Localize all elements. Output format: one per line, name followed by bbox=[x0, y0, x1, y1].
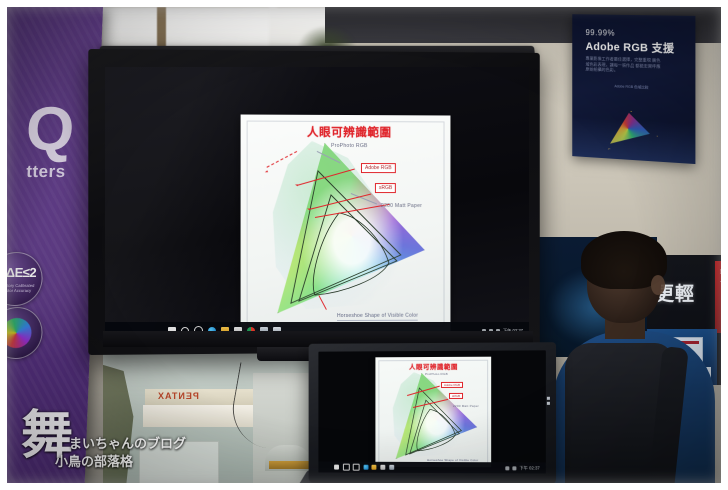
color-fan-icon bbox=[7, 318, 32, 348]
tablet-taskbar[interactable]: 下午 02:37 bbox=[318, 462, 545, 474]
adobe-rgb-title: Adobe RGB 支援 bbox=[586, 38, 675, 56]
tablet-cortana-icon[interactable] bbox=[353, 464, 360, 471]
adobe-rgb-body: 專業影像工作者最佳選擇，完整重現 廣色域色彩表現，讓每一張作品 都能忠實呼應原始… bbox=[586, 56, 662, 75]
label-horseshoe-caption: Horseshoe Shape of Visible Color bbox=[337, 313, 418, 321]
pentax-sign-text: PENTAX bbox=[157, 391, 199, 401]
tablet-body: Surface 人眼可辨識範圍 bbox=[309, 342, 556, 483]
slide-inner: 人眼可辨識範圍 bbox=[241, 114, 451, 333]
label-matt-paper: 2200 Matt Paper bbox=[381, 203, 422, 209]
tablet-label-adobe: Adobe RGB bbox=[441, 382, 463, 388]
reflected-strip bbox=[269, 461, 309, 469]
window-reflection: PENTAX bbox=[103, 353, 309, 483]
tablet-volume-icon[interactable] bbox=[512, 466, 516, 470]
tablet-presentation-slide[interactable]: 人眼可辨識範圍 bbox=[375, 357, 491, 468]
photo-scene: A Q tters ΔE≤2 Factory Calibrated Color … bbox=[0, 0, 728, 490]
brand-tagline: tters bbox=[7, 162, 66, 182]
tablet-cie-diagram bbox=[383, 369, 485, 465]
tablet-taskbar-icons bbox=[334, 464, 394, 471]
tablet-network-icon[interactable] bbox=[505, 466, 509, 470]
right-poster-side-text: 新品上市 bbox=[720, 269, 721, 285]
tablet-file-explorer-icon[interactable] bbox=[372, 465, 377, 470]
brand-logo-letter: Q bbox=[7, 95, 74, 165]
tablet-label-srgb: sRGB bbox=[449, 393, 463, 399]
photo-content: A Q tters ΔE≤2 Factory Calibrated Color … bbox=[7, 7, 721, 483]
tablet-screen[interactable]: 人眼可辨識範圍 bbox=[318, 350, 545, 473]
right-poster-red-strip: 新品上市 bbox=[715, 261, 721, 333]
label-adobe-rgb: Adobe RGB bbox=[361, 163, 396, 173]
photo-frame: A Q tters ΔE≤2 Factory Calibrated Color … bbox=[0, 0, 728, 490]
tablet-app-icon[interactable] bbox=[389, 465, 394, 470]
person-ear bbox=[651, 275, 665, 295]
reflected-panel bbox=[139, 441, 219, 483]
tablet-device: Surface 人眼可辨識範圍 bbox=[309, 342, 556, 483]
human-vision-arrowhead bbox=[265, 170, 269, 173]
tablet-search-icon[interactable] bbox=[343, 464, 350, 471]
delta-e-sublabel: Factory Calibrated Color Accuracy bbox=[7, 283, 39, 293]
monitor-screen[interactable]: BenQ 人眼可辨識範圍 bbox=[105, 67, 529, 339]
tablet-edge-icon[interactable] bbox=[363, 465, 368, 470]
presentation-slide[interactable]: 人眼可辨識範圍 bbox=[241, 114, 451, 333]
adobe-rgb-note: Adobe RGB 色域比較 bbox=[614, 84, 648, 90]
banner-glow bbox=[572, 117, 695, 164]
cie-chromaticity-diagram bbox=[255, 135, 441, 326]
adobe-rgb-banner: 99.99% Adobe RGB 支援 專業影像工作者最佳選擇，完整重現 廣色域… bbox=[572, 14, 695, 164]
tablet-start-icon[interactable] bbox=[334, 465, 339, 470]
delta-e-label: ΔE≤2 bbox=[7, 265, 36, 280]
adobe-rgb-percent: 99.99% bbox=[586, 28, 616, 37]
tablet-clock[interactable]: 下午 02:37 bbox=[519, 465, 539, 470]
visitor-person bbox=[559, 239, 709, 483]
tablet-store-icon[interactable] bbox=[380, 465, 385, 470]
tablet-label-paper: 2200 Matt Paper bbox=[453, 404, 479, 408]
label-srgb: sRGB bbox=[375, 183, 396, 193]
tablet-label-prophoto: ProPhoto RGB bbox=[425, 372, 448, 376]
tablet-system-tray[interactable]: 下午 02:37 bbox=[505, 465, 539, 470]
adobe-arrowhead bbox=[295, 184, 298, 187]
srgb-arrowhead bbox=[307, 208, 310, 211]
label-prophoto-rgb: ProPhoto RGB bbox=[331, 143, 368, 149]
